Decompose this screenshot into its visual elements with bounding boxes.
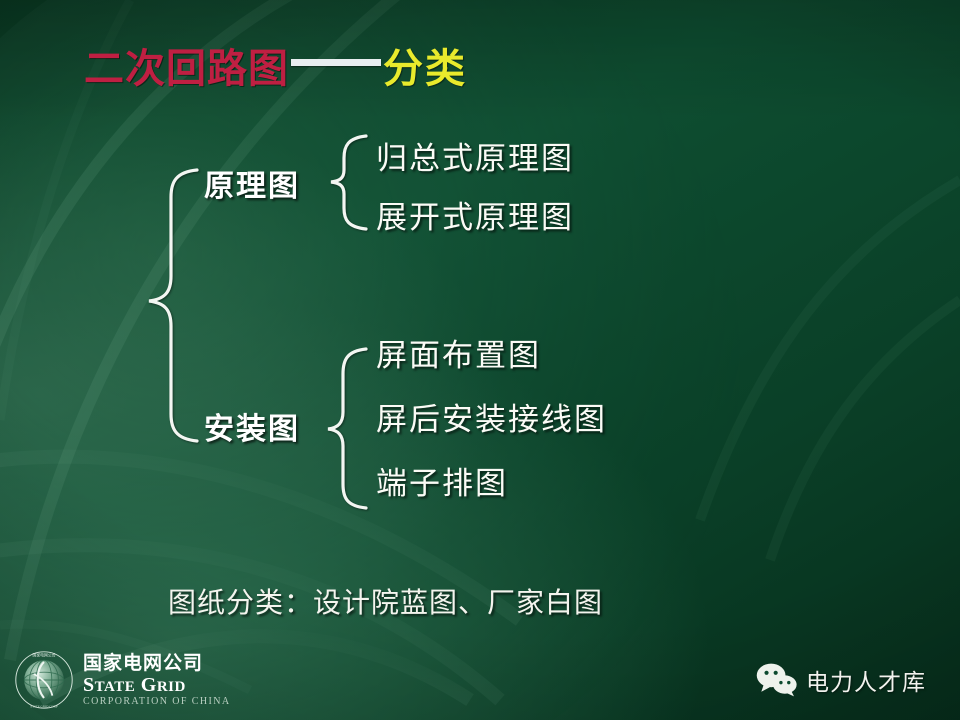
- logo-english-name: STATE GRID: [83, 675, 230, 695]
- state-grid-logo: 国家电网公司 STATE GRID CORP 国家电网公司 STATE GRID…: [14, 650, 230, 710]
- logo-en-tate: TATE: [95, 679, 136, 695]
- logo-en-s: S: [83, 674, 95, 696]
- logo-en-rid: RID: [157, 679, 186, 695]
- svg-text:国家电网公司: 国家电网公司: [33, 653, 56, 658]
- state-grid-globe-icon: 国家电网公司 STATE GRID CORP: [14, 650, 74, 710]
- title-suffix-text: 分类: [383, 36, 467, 94]
- wechat-label: 电力人才库: [806, 663, 926, 697]
- state-grid-logo-text: 国家电网公司 STATE GRID CORPORATION OF CHINA: [83, 654, 230, 707]
- title-dash-rule: [291, 59, 381, 66]
- slide-title: 二次回路图 分类: [84, 36, 467, 94]
- logo-en-g: G: [141, 674, 157, 696]
- logo-english-subtitle: CORPORATION OF CHINA: [83, 697, 230, 707]
- footnote-text: 图纸分类：设计院蓝图、厂家白图: [168, 581, 603, 621]
- wechat-watermark: 电力人才库: [756, 663, 926, 697]
- slide-canvas: 二次回路图 分类 原理图 安装图 归总式原理图 展开式原理图 屏面布置图 屏后安…: [0, 0, 960, 720]
- title-main-text: 二次回路图: [84, 36, 289, 94]
- wechat-icon: [756, 663, 798, 697]
- svg-text:STATE GRID CORP: STATE GRID CORP: [30, 705, 58, 709]
- logo-chinese-name: 国家电网公司: [83, 654, 230, 673]
